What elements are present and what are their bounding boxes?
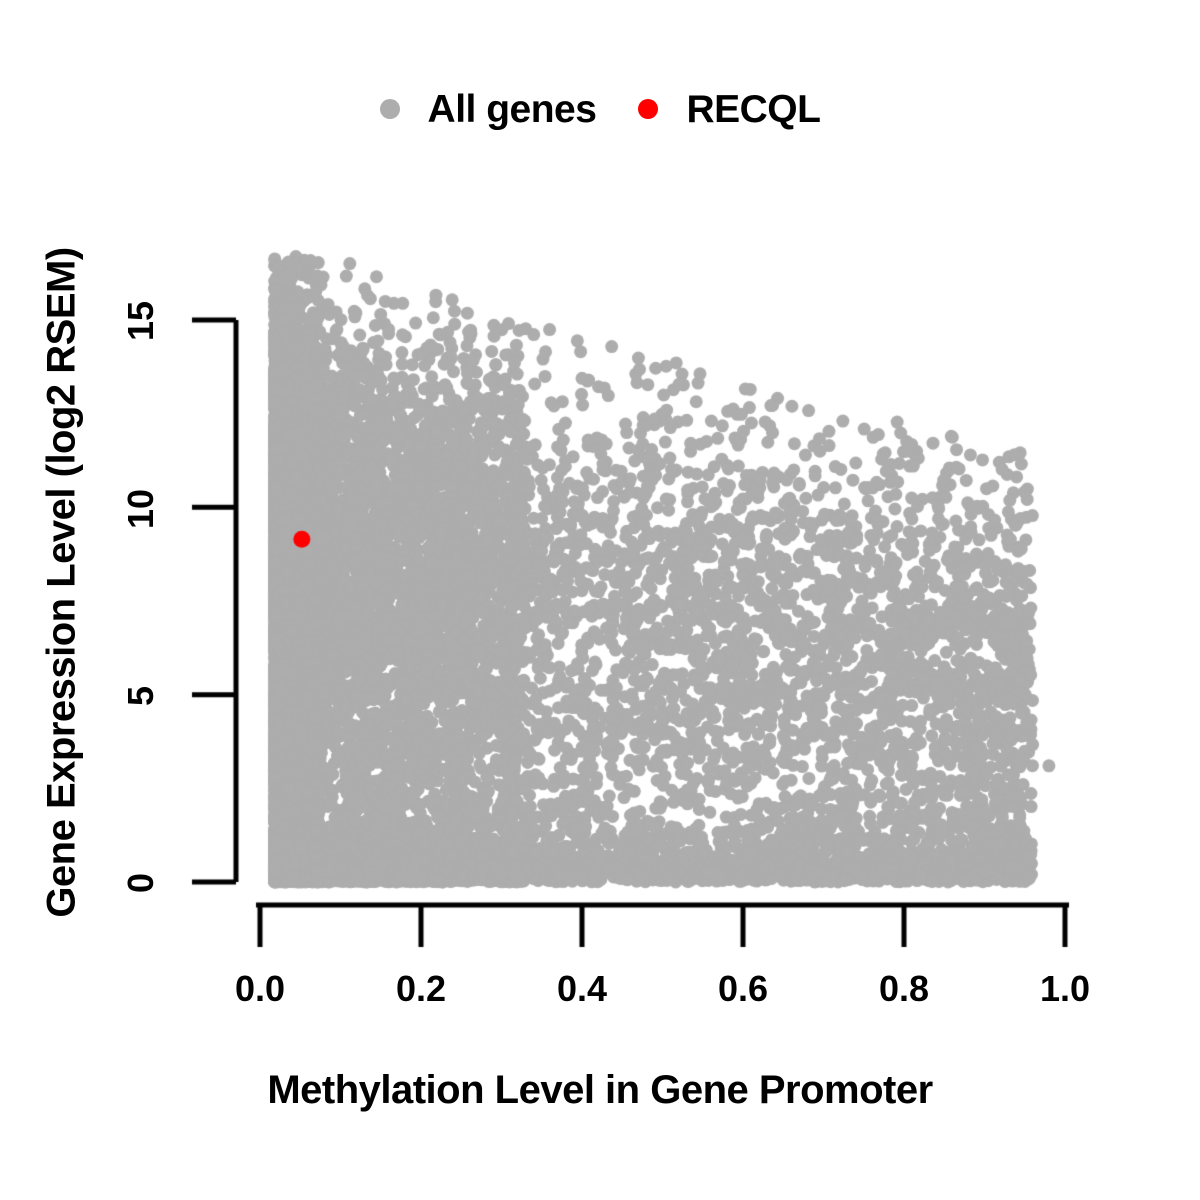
scatter-plot-figure: All genes RECQL Methylation Level in Gen… <box>0 0 1200 1200</box>
x-tick-label-1: 0.2 <box>361 968 481 1010</box>
y-tick-label-0: 0 <box>120 838 162 928</box>
y-tick-label-2: 10 <box>120 464 162 554</box>
x-tick-label-0: 0.0 <box>200 968 320 1010</box>
x-tick-label-2: 0.4 <box>522 968 642 1010</box>
x-axis-title: Methylation Level in Gene Promoter <box>0 1068 1200 1113</box>
y-axis-title: Gene Expression Level (log2 RSEM) <box>40 203 85 963</box>
y-tick-label-1: 5 <box>120 651 162 741</box>
x-tick-label-3: 0.6 <box>683 968 803 1010</box>
scatter-plot-canvas <box>0 0 1200 1200</box>
x-tick-label-4: 0.8 <box>844 968 964 1010</box>
y-tick-label-3: 15 <box>120 276 162 366</box>
x-tick-label-5: 1.0 <box>1005 968 1125 1010</box>
